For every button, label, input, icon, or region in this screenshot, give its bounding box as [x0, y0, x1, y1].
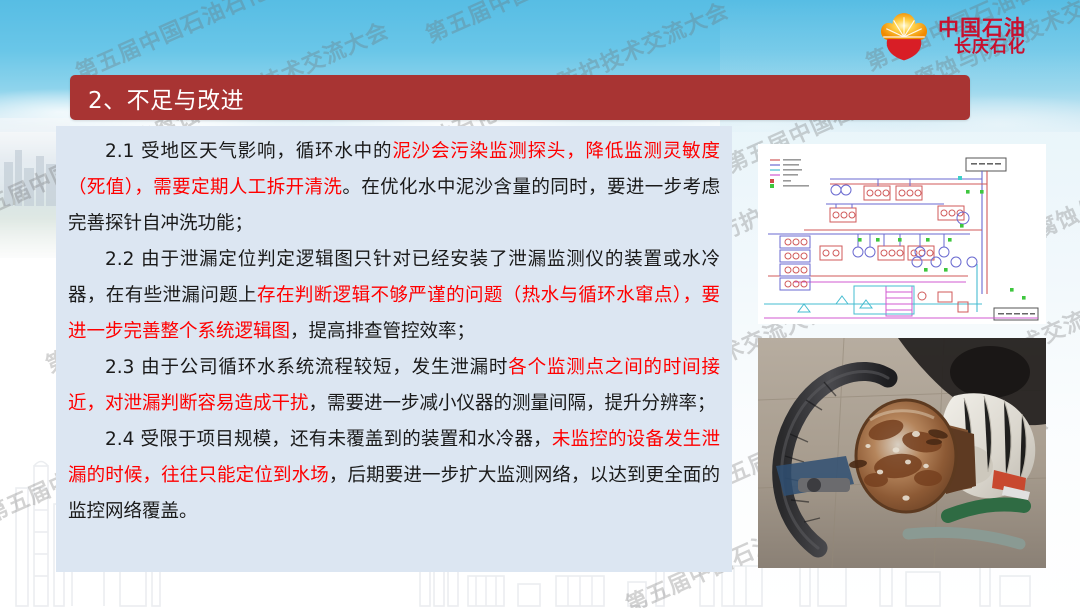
petrochina-logo: 中国石油 长庆石化: [878, 8, 1068, 66]
text-run: 2.3 由于公司循环水系统流程较短，发生泄漏时: [105, 357, 508, 378]
corroded-probe-photo: [758, 338, 1046, 568]
body-paragraph: 2.2 由于泄漏定位判定逻辑图只针对已经安装了泄漏监测仪的装置或水冷器，在有些泄…: [68, 242, 720, 350]
body-paragraph: 2.3 由于公司循环水系统流程较短，发生泄漏时各个监测点之间的时间接近，对泄漏判…: [68, 350, 720, 422]
body-content-panel: 2.1 受地区天气影响，循环水中的泥沙会污染监测探头，降低监测灵敏度（死值），需…: [56, 126, 732, 572]
text-run: 2.1 受地区天气影响，循环水中的: [105, 141, 392, 162]
page-title: 2、不足与改进: [70, 81, 244, 115]
text-run: 2.4 受限于项目规模，还有未覆盖到的装置和水冷器，: [105, 429, 552, 450]
circulating-water-pid-diagram: [758, 144, 1046, 324]
logo-subsidiary-name: 长庆石化: [938, 39, 1026, 57]
text-run: ，提高排查管控效率；: [290, 321, 475, 342]
body-paragraph: 2.4 受限于项目规模，还有未覆盖到的装置和水冷器，未监控的设备发生泄漏的时候，…: [68, 422, 720, 530]
body-paragraph: 2.1 受地区天气影响，循环水中的泥沙会污染监测探头，降低监测灵敏度（死值），需…: [68, 134, 720, 242]
section-title-bar: 2、不足与改进: [70, 75, 970, 120]
text-run: ，需要进一步减小仪器的测量间隔，提升分辨率；: [309, 393, 716, 414]
body-text-block: 2.1 受地区天气影响，循环水中的泥沙会污染监测探头，降低监测灵敏度（死值），需…: [68, 134, 720, 530]
logo-company-name: 中国石油: [938, 17, 1026, 39]
slide-root: 第五届中国石油石化腐蚀与防护技术交流大会 第五届中国石油石化腐蚀与防护技术交流大…: [0, 0, 1080, 608]
petrochina-flame-icon: [878, 11, 930, 63]
